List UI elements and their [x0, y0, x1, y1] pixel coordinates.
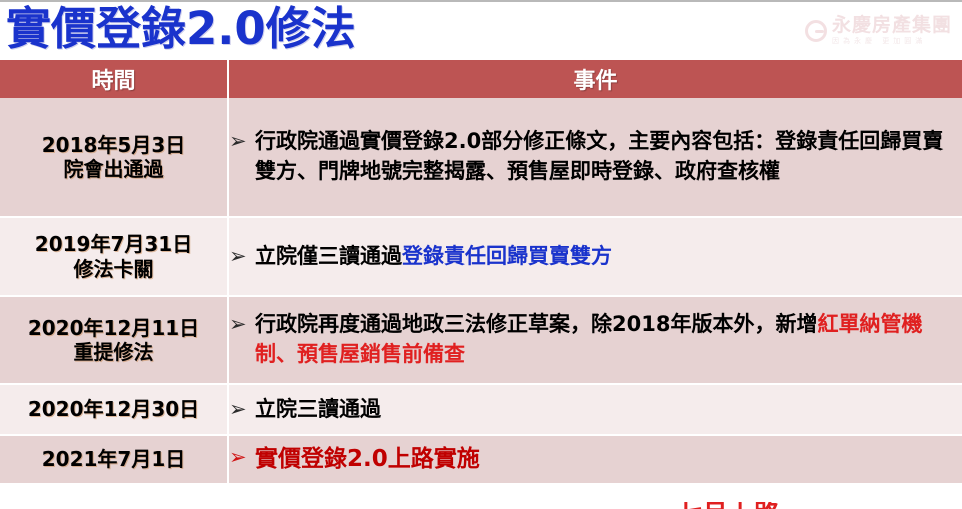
- time-cell: 2019年7月31日 修法卡關: [0, 217, 228, 296]
- event-text-part: 實價登錄2.0上路實施: [255, 446, 480, 472]
- time-cell: 2018年5月3日 院會出通過: [0, 98, 228, 217]
- event-text-part: 立院三讀通過: [255, 397, 381, 421]
- event-text-part: 立院僅三讀通過: [255, 244, 402, 268]
- table-row: 2019年7月31日 修法卡關 ➢ 立院僅三讀通過登錄責任回歸買賣雙方: [0, 217, 962, 296]
- table-header-row: 時間 事件: [0, 60, 962, 98]
- event-text-highlight: 登錄責任回歸買賣雙方: [402, 244, 612, 268]
- event-text: 行政院再度通過地政三法修正草案，除2018年版本外，新增紅單納管機制、預售屋銷售…: [255, 310, 962, 370]
- column-header-event: 事件: [228, 60, 962, 98]
- table-row: 2020年12月30日 ➢ 立院三讀通過: [0, 384, 962, 435]
- event-cell: ➢ 行政院通過實價登錄2.0部分修正條文，主要內容包括：登錄責任回歸買賣雙方、門…: [228, 98, 962, 217]
- event-cell: ➢ 實價登錄2.0上路實施: [228, 435, 962, 484]
- event-text-part: 行政院通過實價登錄2.0部分修正條文，主要內容包括：登錄責任回歸買賣雙方、門牌地…: [255, 129, 943, 183]
- time-line: 2020年12月30日: [0, 397, 227, 421]
- logo-name: 永慶房產集團: [832, 16, 952, 35]
- time-cell: 2021年7月1日: [0, 435, 228, 484]
- event-text: 實價登錄2.0上路實施: [255, 443, 962, 476]
- logo-circle-icon: [805, 20, 827, 42]
- time-line: 2019年7月31日: [0, 232, 227, 256]
- time-cell: 2020年12月11日 重提修法: [0, 296, 228, 384]
- table-row: 2020年12月11日 重提修法 ➢ 行政院再度通過地政三法修正草案，除2018…: [0, 296, 962, 384]
- arrow-bullet-icon: ➢: [229, 242, 255, 272]
- table-row: 2018年5月3日 院會出通過 ➢ 行政院通過實價登錄2.0部分修正條文，主要內…: [0, 98, 962, 217]
- arrow-bullet-icon: ➢: [229, 127, 255, 157]
- event-text-part: 行政院再度通過地政三法修正草案，除2018年版本外，新增: [255, 312, 817, 336]
- event-cell: ➢ 立院僅三讀通過登錄責任回歸買賣雙方: [228, 217, 962, 296]
- arrow-bullet-icon: ➢: [229, 443, 255, 473]
- time-line: 重提修法: [0, 340, 227, 364]
- event-text: 立院三讀通過: [255, 395, 962, 425]
- time-line: 修法卡關: [0, 257, 227, 281]
- page-title: 實價登錄2.0修法: [6, 0, 356, 58]
- arrow-bullet-icon: ➢: [229, 395, 255, 425]
- table-row: 2021年7月1日 ➢ 實價登錄2.0上路實施: [0, 435, 962, 484]
- time-cell: 2020年12月30日: [0, 384, 228, 435]
- event-cell: ➢ 立院三讀通過: [228, 384, 962, 435]
- brand-logo: 永慶房產集團 因為永慶 更加圓滿: [805, 16, 952, 45]
- arrow-bullet-icon: ➢: [229, 310, 255, 340]
- slide-header: 實價登錄2.0修法 永慶房產集團 因為永慶 更加圓滿: [0, 2, 962, 60]
- time-line: 2020年12月11日: [0, 316, 227, 340]
- time-line: 2021年7月1日: [0, 447, 227, 471]
- cropped-bottom-callout: 七月上路: [676, 502, 780, 509]
- time-line: 院會出通過: [0, 157, 227, 181]
- event-cell: ➢ 行政院再度通過地政三法修正草案，除2018年版本外，新增紅單納管機制、預售屋…: [228, 296, 962, 384]
- logo-tagline: 因為永慶 更加圓滿: [832, 38, 952, 45]
- time-line: 2018年5月3日: [0, 133, 227, 157]
- event-text: 行政院通過實價登錄2.0部分修正條文，主要內容包括：登錄責任回歸買賣雙方、門牌地…: [255, 127, 962, 187]
- event-text: 立院僅三讀通過登錄責任回歸買賣雙方: [255, 242, 962, 272]
- timeline-table: 時間 事件 2018年5月3日 院會出通過 ➢ 行政院通過實價登錄2.0部分修正…: [0, 60, 962, 485]
- column-header-time: 時間: [0, 60, 228, 98]
